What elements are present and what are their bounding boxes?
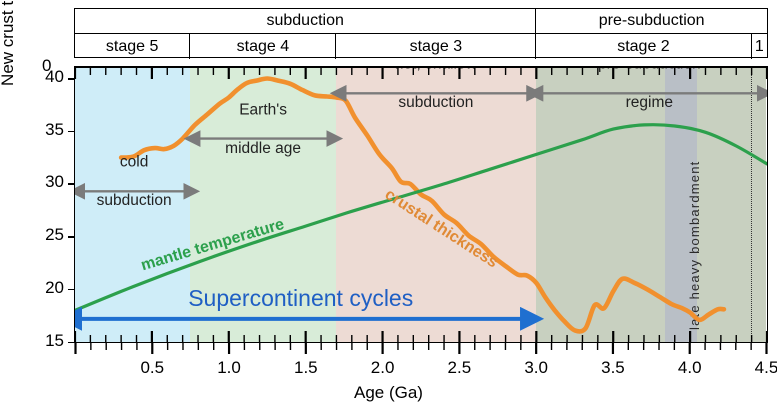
stage-cell-1: 1 xyxy=(752,34,767,59)
y-axis-top-zero-label: 0 xyxy=(42,56,51,76)
y-tick-label: 30 xyxy=(30,172,64,192)
stage-cell-stage-4: stage 4 xyxy=(190,34,336,59)
stage-header-top-row: subductionpre-subduction xyxy=(75,9,767,34)
stage-cell-stage-3: stage 3 xyxy=(336,34,536,59)
x-tick-label: 4.0 xyxy=(668,358,712,378)
top-axis-ticks xyxy=(75,68,767,342)
y-tick-label: 35 xyxy=(30,120,64,140)
x-tick-label: 2.0 xyxy=(361,358,405,378)
plot-area: late heavy bombardment coldsubductionEar… xyxy=(74,66,768,343)
stage-cell-stage-2: stage 2 xyxy=(536,34,751,59)
x-tick-label: 0.5 xyxy=(130,358,174,378)
stage-header-bottom-row: stage 5stage 4stage 3stage 21 xyxy=(75,34,767,59)
x-axis-label: Age (Ga) xyxy=(0,383,777,403)
x-tick-label: 1.5 xyxy=(284,358,328,378)
stage-header-table: subductionpre-subduction stage 5stage 4s… xyxy=(74,8,768,58)
figure-root: subductionpre-subduction stage 5stage 4s… xyxy=(0,0,777,410)
x-tick-label: 3.5 xyxy=(591,358,635,378)
stage-cell-subduction: subduction xyxy=(75,9,536,33)
x-tick-label: 2.5 xyxy=(437,358,481,378)
y-tick-label: 25 xyxy=(30,225,64,245)
x-tick-label: 4.5 xyxy=(745,358,777,378)
x-tick-label: 1.0 xyxy=(207,358,251,378)
y-axis-label: New crust thickness (km) xyxy=(0,0,18,96)
y-tick-label: 20 xyxy=(30,278,64,298)
x-tick-label: 3.0 xyxy=(514,358,558,378)
stage-cell-stage-5: stage 5 xyxy=(75,34,190,59)
stage-cell-pre-subduction: pre-subduction xyxy=(536,9,767,33)
